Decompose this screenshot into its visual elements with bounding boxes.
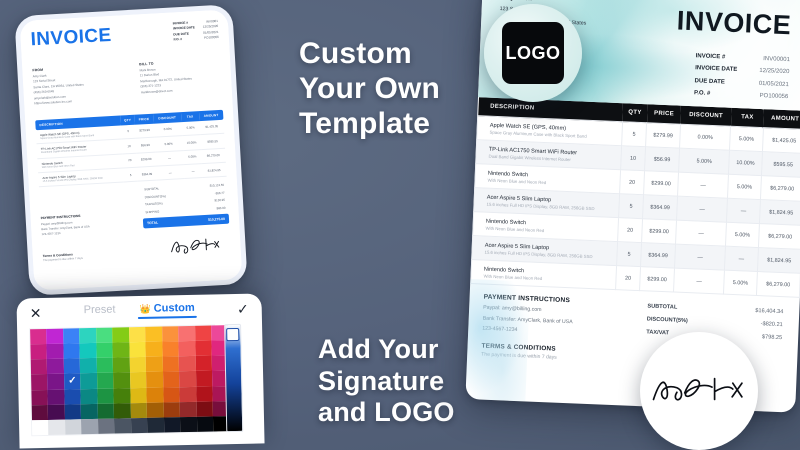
total-value: $10,275.00 (208, 217, 225, 222)
total-bar: TOTAL $10,275.00 (143, 213, 229, 228)
color-swatch[interactable] (113, 373, 130, 388)
cell-amount: $6,279.00 (201, 148, 226, 164)
brightness-slider[interactable] (224, 324, 243, 432)
color-swatch[interactable] (180, 402, 197, 417)
cell-qty: 5 (121, 125, 136, 140)
color-swatch[interactable] (97, 373, 114, 388)
cell-tax: 5.00% (726, 222, 759, 247)
meta-label: P.O. # (174, 36, 196, 43)
color-swatch[interactable] (130, 372, 147, 387)
color-swatch[interactable] (196, 401, 213, 416)
cell-discount: — (674, 244, 725, 270)
color-swatch[interactable] (47, 329, 64, 344)
cell-amount: $595.55 (761, 152, 800, 178)
color-swatch[interactable] (112, 327, 129, 342)
cell-tax: 10.00% (729, 150, 762, 175)
cell-price: $56.99 (645, 147, 680, 172)
color-swatch[interactable] (47, 344, 64, 359)
color-swatch-grid[interactable] (29, 324, 217, 436)
color-swatch[interactable] (162, 326, 179, 341)
color-swatch[interactable] (113, 342, 130, 357)
color-swatch[interactable] (81, 388, 98, 403)
left-invoice-title: INVOICE (30, 25, 112, 51)
color-swatch[interactable] (48, 419, 65, 434)
color-swatch[interactable] (80, 358, 97, 373)
color-swatch[interactable] (31, 374, 48, 389)
from-block: FROM Amy Clark 123 Serial Street Santa C… (32, 64, 115, 107)
check-icon[interactable]: ✓ (237, 302, 249, 316)
app-screenshot: INVOICE INVOICE # INVOICE DATE DUE DATE … (0, 0, 800, 450)
cell-description-sub: Dual Band Gigabit Wireless Internet Rout… (488, 153, 617, 163)
cell-description-sub: Space Gray Aluminum Case with Black Spor… (489, 129, 618, 139)
color-swatch[interactable] (163, 402, 180, 417)
cell-qty: 5 (123, 167, 138, 182)
color-swatch[interactable] (98, 403, 115, 418)
left-invoice-meta: INVOICE # INVOICE DATE DUE DATE P.O. # I… (173, 19, 219, 43)
meta-label: INVOICE DATE (695, 63, 738, 77)
color-swatch[interactable] (130, 357, 147, 372)
cell-price: $364.99 (643, 195, 678, 220)
meta-value: 12/25/2020 (759, 65, 790, 79)
cell-tax: 10.00% (182, 135, 201, 150)
color-swatch[interactable] (98, 418, 115, 433)
headline-line-3: Template (299, 106, 440, 141)
color-picker-tabs: Preset 👑Custom (41, 301, 237, 321)
color-swatch[interactable] (196, 386, 213, 401)
cell-description-sub: 15.6 inches Full HD IPS Display, 8GB RAM… (43, 176, 122, 183)
cell-amount: $1,824.95 (202, 162, 227, 178)
cell-qty: 10 (122, 138, 137, 153)
color-swatch[interactable] (147, 387, 164, 402)
right-terms: TERMS & CONDITIONS The payment is due wi… (481, 343, 631, 364)
color-swatch[interactable] (48, 404, 65, 419)
cell-price: $364.99 (137, 166, 156, 181)
color-swatch[interactable] (163, 372, 180, 387)
headline-line-2: Your Own (299, 71, 440, 106)
color-swatch[interactable] (162, 356, 179, 371)
color-swatch[interactable] (97, 388, 114, 403)
cell-qty: 5 (618, 194, 643, 219)
cell-description-sub: With Neon Blue and Neon Red (42, 161, 121, 168)
cell-qty: 20 (619, 170, 644, 195)
signature-icon (647, 371, 751, 411)
cell-discount: — (673, 268, 724, 294)
cell-discount: 5.00% (678, 148, 729, 174)
left-signature (168, 234, 227, 257)
color-swatch[interactable] (147, 402, 164, 417)
headline-custom-template: Custom Your Own Template (299, 36, 440, 141)
cell-qty: 20 (122, 153, 137, 168)
color-swatch[interactable] (179, 371, 196, 386)
color-swatch[interactable] (65, 419, 82, 434)
col-price: PRICE (647, 104, 681, 124)
color-swatch[interactable] (32, 405, 49, 420)
bill-to-lines: Mark Brown 11 Darius Blvd Marlborough, M… (139, 63, 221, 95)
right-invoice-meta: INVOICE # INVOICE DATE DUE DATE P.O. # I… (694, 50, 790, 103)
cell-tax: 5.00% (181, 121, 200, 136)
color-swatch[interactable] (32, 420, 49, 435)
col-discount: DISCOUNT (680, 106, 731, 127)
cell-description-sub: Space Gray Aluminum Case with Black Spor… (40, 133, 119, 140)
color-swatch[interactable] (65, 404, 82, 419)
cell-description-sub: With Neon Blue and Neon Red (487, 177, 616, 187)
right-payment-instructions: PAYMENT INSTRUCTIONS Paypal: amy@billing… (482, 294, 634, 341)
color-swatch[interactable] (195, 356, 212, 371)
color-swatch[interactable] (147, 417, 164, 432)
headline-line-3: and LOGO (318, 397, 455, 429)
cell-qty: 10 (620, 146, 645, 171)
cell-qty: 5 (616, 242, 641, 267)
slider-handle[interactable] (226, 328, 239, 341)
color-swatch[interactable] (81, 404, 98, 419)
cell-tax: — (727, 198, 760, 223)
left-terms: Terms & Conditions The payment is due wi… (43, 249, 133, 263)
cell-discount: — (676, 196, 727, 222)
cell-amount: $6,279.00 (756, 272, 800, 298)
color-swatch[interactable] (114, 388, 131, 403)
cell-price: $364.99 (641, 243, 676, 268)
color-swatch[interactable] (97, 358, 114, 373)
color-swatch[interactable] (48, 374, 65, 389)
cell-tax: 5.00% (730, 126, 763, 151)
left-phone-preview[interactable]: INVOICE INVOICE # INVOICE DATE DUE DATE … (14, 4, 247, 296)
cell-discount: — (677, 172, 728, 198)
payment-lines: Paypal: amy@billing.com Bank Transfer: A… (41, 216, 138, 237)
color-swatch[interactable] (31, 390, 48, 405)
headline-line-2: Signature (318, 366, 455, 398)
color-swatch[interactable] (195, 326, 212, 341)
left-invoice-table: DESCRIPTION QTY PRICE DISCOUNT TAX AMOUN… (35, 110, 226, 188)
color-swatch[interactable] (178, 326, 195, 341)
color-swatch[interactable] (81, 419, 98, 434)
color-swatch[interactable] (146, 357, 163, 372)
cell-qty: 5 (621, 122, 646, 147)
col-qty: QTY (622, 103, 647, 123)
color-swatch[interactable] (96, 328, 113, 343)
left-invoice-parties: FROM Amy Clark 123 Serial Street Santa C… (32, 58, 222, 107)
cell-description-sub: Dual Band Gigabit Wireless Internet Rout… (41, 147, 120, 154)
cell-discount: — (155, 150, 184, 166)
color-swatch[interactable] (80, 373, 97, 388)
cell-price: $299.00 (136, 152, 155, 167)
left-invoice-header: INVOICE INVOICE # INVOICE DATE DUE DATE … (30, 19, 219, 51)
left-payment-instructions: PAYMENT INSTRUCTIONS Paypal: amy@billing… (41, 211, 138, 238)
cell-description-sub: With Neon Blue and Neon Red (483, 273, 612, 283)
cell-tax: — (725, 246, 758, 271)
color-swatch[interactable] (130, 403, 147, 418)
cell-qty: 20 (617, 218, 642, 243)
color-swatch[interactable] (130, 387, 147, 402)
color-swatch[interactable] (30, 344, 47, 359)
color-swatch[interactable] (145, 327, 162, 342)
headline-line-1: Custom (299, 36, 440, 71)
color-swatch[interactable] (163, 387, 180, 402)
tab-custom[interactable]: 👑Custom (139, 302, 194, 319)
color-swatch[interactable] (129, 342, 146, 357)
cell-description-sub: 15.6 inches Full HD IPS Display, 8GB RAM… (484, 249, 613, 259)
payment-lines: Paypal: amy@billing.com Bank Transfer: A… (482, 303, 633, 341)
tab-preset[interactable]: Preset (84, 304, 116, 321)
color-swatch[interactable] (131, 418, 148, 433)
col-amount: AMOUNT (763, 109, 800, 129)
cell-amount: $595.55 (200, 133, 225, 149)
right-invoice-title: INVOICE (676, 5, 792, 41)
right-invoice-table: DESCRIPTION QTY PRICE DISCOUNT TAX AMOUN… (470, 97, 800, 298)
left-invoice-page: INVOICE INVOICE # INVOICE DATE DUE DATE … (20, 9, 243, 290)
color-swatch[interactable] (63, 328, 80, 343)
color-swatch[interactable] (162, 341, 179, 356)
color-swatch[interactable] (146, 342, 163, 357)
cell-price: $56.99 (136, 137, 155, 152)
headline-signature-logo: Add Your Signature and LOGO (318, 334, 455, 429)
color-swatch[interactable] (180, 417, 197, 432)
meta-value: 01/05/2021 (759, 78, 790, 92)
cell-amount: $1,824.95 (759, 200, 800, 226)
color-swatch[interactable] (196, 371, 213, 386)
cell-price: $299.00 (642, 219, 677, 244)
color-swatch[interactable] (48, 389, 65, 404)
cell-tax: 5.00% (183, 149, 202, 164)
color-swatch[interactable] (47, 359, 64, 374)
color-swatch[interactable] (64, 374, 81, 389)
crown-icon: 👑 (139, 304, 150, 314)
cell-description-sub: With Neon Blue and Neon Red (485, 225, 614, 235)
cell-discount: — (675, 220, 726, 246)
color-swatch[interactable] (64, 359, 81, 374)
color-swatch[interactable] (129, 327, 146, 342)
tab-custom-label: Custom (154, 302, 195, 315)
cell-amount: $1,824.95 (757, 248, 800, 274)
cell-discount: 0.00% (679, 124, 730, 150)
color-swatch[interactable] (79, 328, 96, 343)
headline-line-1: Add Your (318, 334, 455, 366)
meta-value: PO100056 (758, 90, 789, 104)
color-swatch[interactable] (80, 343, 97, 358)
signature-icon (168, 234, 227, 257)
color-swatch[interactable] (180, 386, 197, 401)
cell-amount: $6,279.00 (758, 224, 800, 250)
logo-magnifier: LOGO (484, 4, 582, 102)
cell-description-sub: 15.6 inches Full HD IPS Display, 8GB RAM… (486, 201, 615, 211)
color-swatch[interactable] (114, 418, 131, 433)
color-swatch[interactable] (164, 417, 181, 432)
cell-price: $279.99 (135, 123, 154, 138)
color-swatch[interactable] (179, 356, 196, 371)
from-lines: Amy Clark 123 Serial Street Santa Clara,… (33, 69, 116, 107)
cell-price: $299.00 (644, 171, 679, 196)
color-picker-body (17, 323, 264, 436)
cell-tax: — (184, 163, 203, 178)
cell-amount: $1,425.05 (762, 128, 800, 154)
color-swatch[interactable] (179, 341, 196, 356)
cell-discount: — (156, 164, 185, 180)
color-swatch[interactable] (146, 372, 163, 387)
signature-magnifier (640, 332, 758, 450)
col-tax: TAX (731, 108, 764, 128)
color-swatch[interactable] (114, 403, 131, 418)
cell-amount: $6,279.00 (760, 176, 800, 202)
meta-value: PO100056 (203, 35, 219, 41)
color-swatch[interactable] (113, 358, 130, 373)
color-swatch[interactable] (197, 416, 214, 431)
bill-to-block: BILL TO Mark Brown 11 Darius Blvd Marlbo… (139, 58, 222, 101)
cell-tax: 5.00% (724, 270, 757, 295)
cell-amount: $1,425.05 (199, 120, 224, 135)
left-totals: SUBTOTAL$10,124.55 DISCOUNT(5%)-$56.77 T… (141, 181, 229, 228)
close-icon[interactable]: ✕ (30, 306, 42, 320)
color-swatch[interactable] (63, 343, 80, 358)
cell-qty: 20 (615, 266, 640, 291)
cell-discount: 5.00% (154, 136, 183, 152)
color-swatch[interactable] (30, 329, 47, 344)
color-swatch[interactable] (64, 389, 81, 404)
color-swatch[interactable] (96, 343, 113, 358)
color-swatch[interactable] (195, 341, 212, 356)
cell-price: $299.00 (640, 267, 675, 292)
cell-price: $279.99 (646, 123, 681, 148)
color-swatch[interactable] (31, 359, 48, 374)
total-label: TOTAL (147, 220, 158, 225)
logo-badge: LOGO (502, 22, 564, 84)
cell-tax: 5.00% (728, 174, 761, 199)
color-picker-sheet[interactable]: ✕ Preset 👑Custom ✓ (16, 293, 264, 448)
meta-label: P.O. # (694, 87, 737, 101)
